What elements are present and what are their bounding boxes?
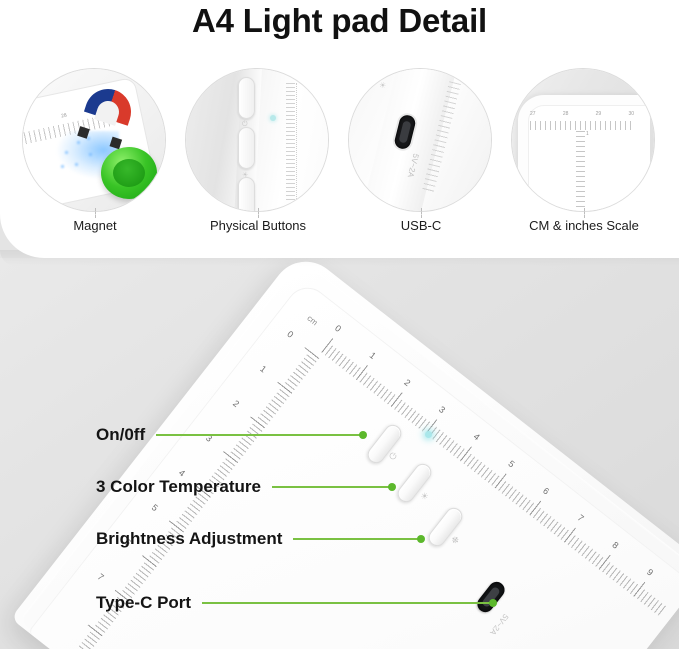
led-indicator-small [270, 115, 276, 121]
led-indicator [425, 431, 432, 438]
magnet-tick-1: 28 [61, 112, 68, 119]
callout-power: On/0ff [96, 424, 363, 446]
feature-label-scale: CM & inches Scale [511, 218, 657, 233]
page-title: A4 Light pad Detail [0, 2, 679, 40]
callout-label-type-c-port: Type-C Port [96, 593, 191, 613]
feature-scale[interactable]: 27 28 29 30 1 2 CM & inches Scale [511, 68, 657, 238]
feature-label-usb-c: USB-C [348, 218, 494, 233]
thumb-vertical-numbers: 1 2 [586, 131, 589, 212]
thumb-vertical-ruler [576, 131, 585, 212]
v-tick-1: 1 [237, 364, 268, 402]
magnet-thumbnail: 27 28 29 [22, 68, 166, 212]
magnet-connector-tick [95, 208, 96, 218]
thumb-tick-29: 29 [596, 111, 602, 117]
cm-unit-label: cm [305, 314, 319, 328]
physical-buttons-thumbnail: ⏻ ☀ [185, 68, 329, 212]
feature-usb-c[interactable]: ☀ 5V~2A USB-C [348, 68, 494, 238]
feature-physical-buttons[interactable]: ⏻ ☀ Physical Buttons [185, 68, 331, 238]
callout-label-brightness: Brightness Adjustment [96, 529, 282, 549]
magnetic-disc [101, 147, 157, 199]
thumb-horizontal-ruler [530, 121, 634, 130]
leader-line-power [156, 434, 363, 436]
scale-thumbnail: 27 28 29 30 1 2 [511, 68, 655, 212]
buttons-connector-tick [258, 208, 259, 218]
thumb-tick-28: 28 [563, 111, 569, 117]
thumb-tick-27: 27 [530, 111, 536, 117]
thumb-ruler-numbers: 27 28 29 30 [530, 111, 634, 117]
callout-color-temperature: 3 Color Temperature [96, 476, 392, 498]
leader-line-color-temperature [272, 486, 392, 488]
feature-label-physical-buttons: Physical Buttons [185, 218, 331, 233]
thumb-v-tick-1: 1 [586, 131, 589, 137]
thumb-tick-30: 30 [628, 111, 634, 117]
scale-connector-tick [584, 208, 585, 218]
usb-c-connector-tick [421, 208, 422, 218]
callout-label-power: On/0ff [96, 425, 145, 445]
v-tick-0: 0 [264, 329, 295, 367]
product-scene: cm 0 1 2 3 4 5 6 7 8 9 0 1 2 3 [0, 258, 679, 649]
feature-magnet[interactable]: 27 28 29 Magnet [22, 68, 168, 238]
usb-c-thumbnail: ☀ 5V~2A [348, 68, 492, 212]
top-panel: A4 Light pad Detail 27 28 29 [0, 0, 679, 258]
callout-type-c-port: Type-C Port [96, 592, 493, 614]
callout-brightness: Brightness Adjustment [96, 528, 421, 550]
feature-list: 27 28 29 Magnet [0, 68, 679, 238]
feature-label-magnet: Magnet [22, 218, 168, 233]
leader-line-type-c-port [202, 602, 493, 604]
callout-label-color-temperature: 3 Color Temperature [96, 477, 261, 497]
leader-line-brightness [293, 538, 421, 540]
